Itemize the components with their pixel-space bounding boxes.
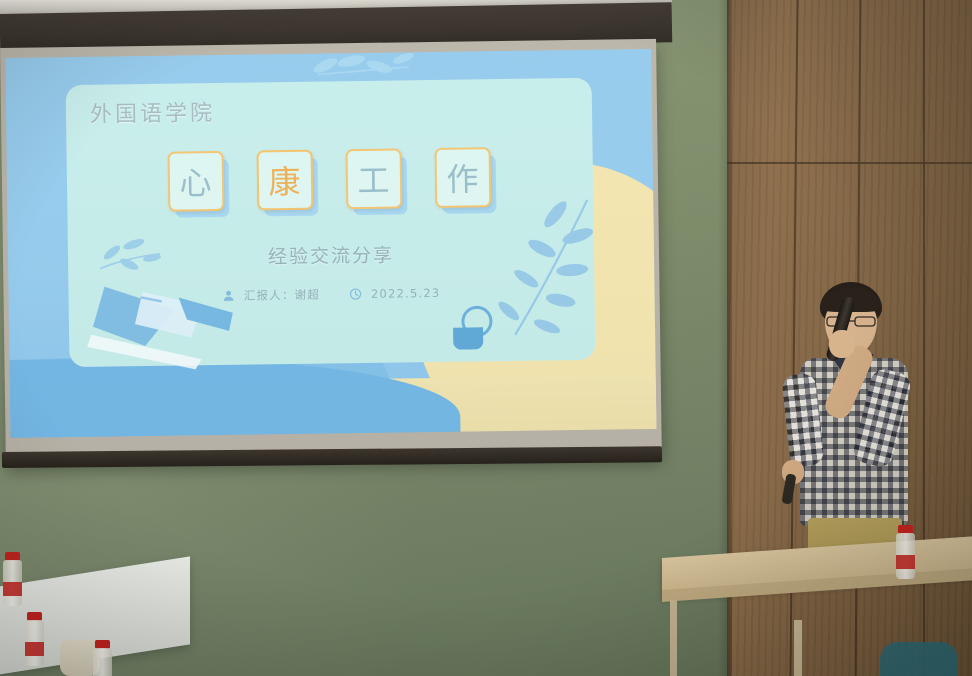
classroom-scene: 外国语学院 心 康 工 [0,0,972,676]
slide-inner-panel: 外国语学院 心 康 工 [66,78,596,367]
water-bottle [895,525,917,585]
bottle-body [93,648,112,676]
character-card: 康 [256,150,315,214]
card-face: 工 [345,148,402,209]
screen-surface: 外国语学院 心 康 工 [0,39,662,466]
water-bottle [2,552,24,614]
wooden-table [662,558,972,676]
slide-school-label: 外国语学院 [90,95,215,129]
bottle-label [3,582,22,596]
wood-seam [727,162,972,164]
table-leg [794,620,802,676]
table-leg [670,600,677,676]
laptop-book-illustration-icon [82,232,274,375]
person-right-hand [829,330,855,358]
character-card: 心 [167,151,226,215]
character-card: 工 [345,148,404,212]
water-bottle [24,612,48,676]
bottle-label [25,642,44,656]
projector-screen: 外国语学院 心 康 工 [0,0,672,490]
water-bottle [92,640,114,676]
card-face: 康 [256,150,313,211]
clock-icon [350,288,362,300]
coffee-cup-outline-icon [447,297,508,350]
bottle-label [896,555,915,569]
card-face: 心 [167,151,224,212]
presentation-slide: 外国语学院 心 康 工 [5,49,656,440]
slide-date-text: 2022.5.23 [371,286,441,301]
